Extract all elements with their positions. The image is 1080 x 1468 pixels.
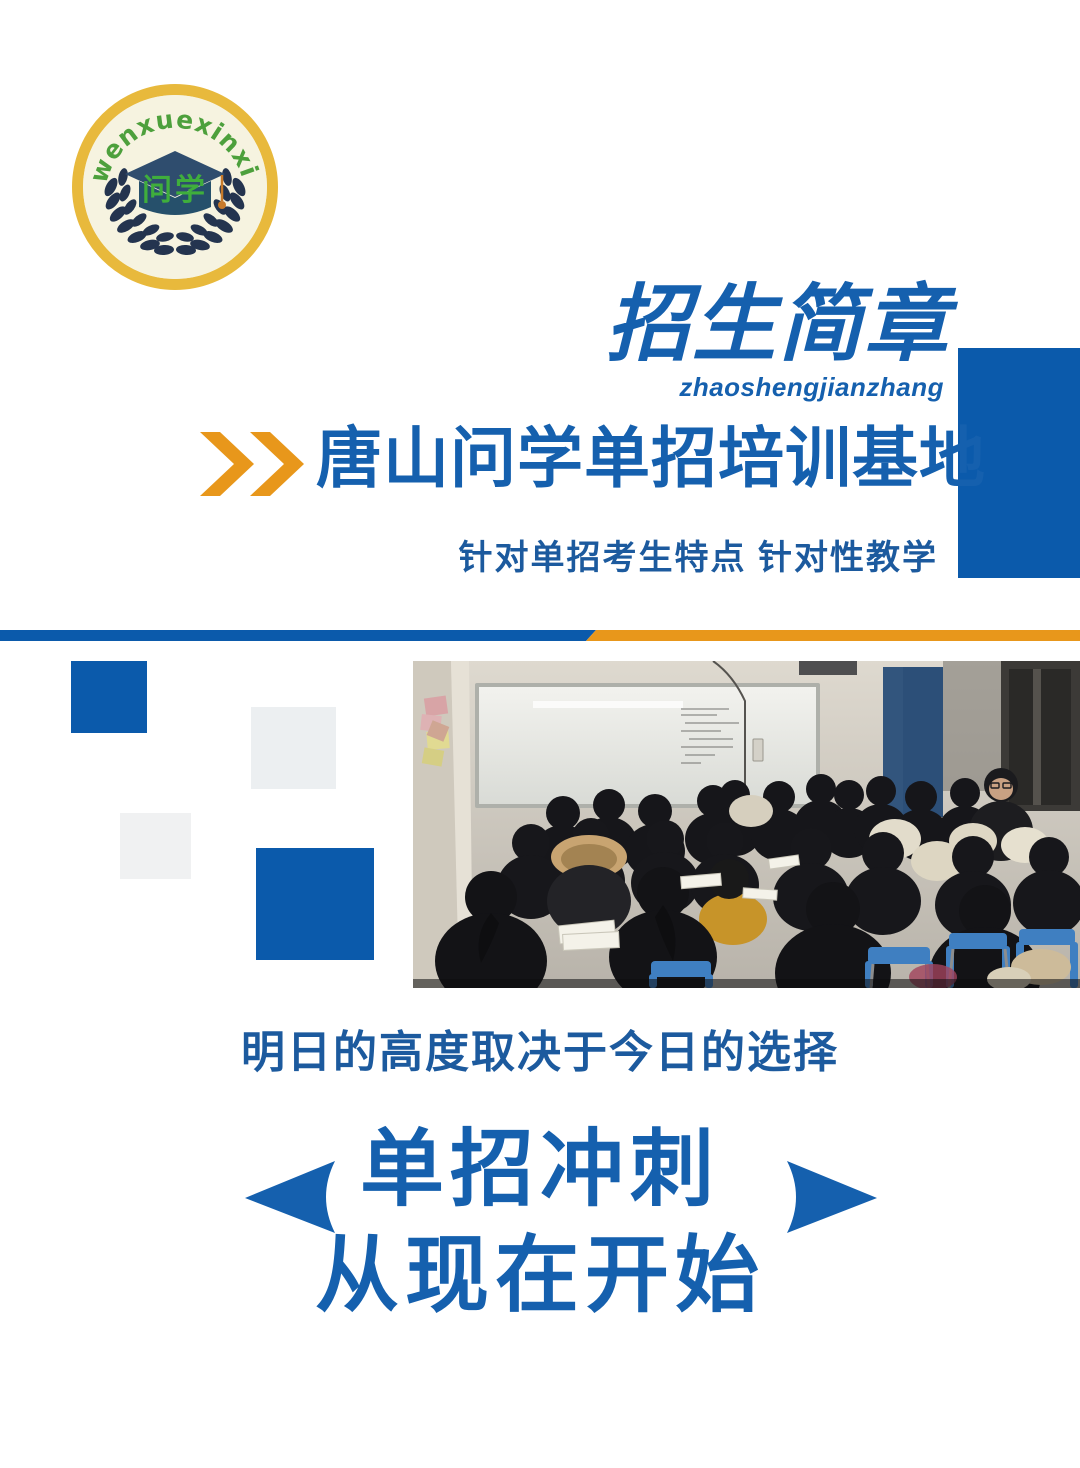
headline-line-2: 从现在开始 bbox=[0, 1208, 1080, 1329]
page-title: 招生简章 bbox=[0, 282, 958, 366]
decor-square-blue-top bbox=[71, 661, 147, 733]
headline-line-1: 单招冲刺 bbox=[0, 1102, 1080, 1223]
page-subtitle: 唐山问学单招培训基地 bbox=[316, 424, 986, 493]
page-title-pinyin: zhaoshengjianzhang bbox=[0, 372, 958, 403]
decor-square-grey-upper bbox=[251, 707, 336, 789]
classroom-photo-illustration bbox=[413, 661, 1080, 988]
double-chevron-right-icon bbox=[198, 428, 308, 500]
poster-root: wenxuexinxi 问学 招生简章 zhaoshengjianzhang 唐… bbox=[0, 0, 1080, 1468]
motto-text: 明日的高度取决于今日的选择 bbox=[0, 1016, 1080, 1080]
logo-hanzi: 问学 bbox=[142, 165, 208, 209]
classroom-photo bbox=[413, 661, 1080, 988]
page-tagline: 针对单招考生特点 针对性教学 bbox=[0, 530, 958, 579]
logo-inner-disc: wenxuexinxi 问学 bbox=[83, 95, 267, 279]
section-divider bbox=[0, 630, 1080, 641]
decor-square-blue-lower bbox=[256, 848, 374, 960]
decor-square-grey-lower bbox=[120, 813, 191, 879]
brand-logo: wenxuexinxi 问学 bbox=[72, 84, 278, 290]
